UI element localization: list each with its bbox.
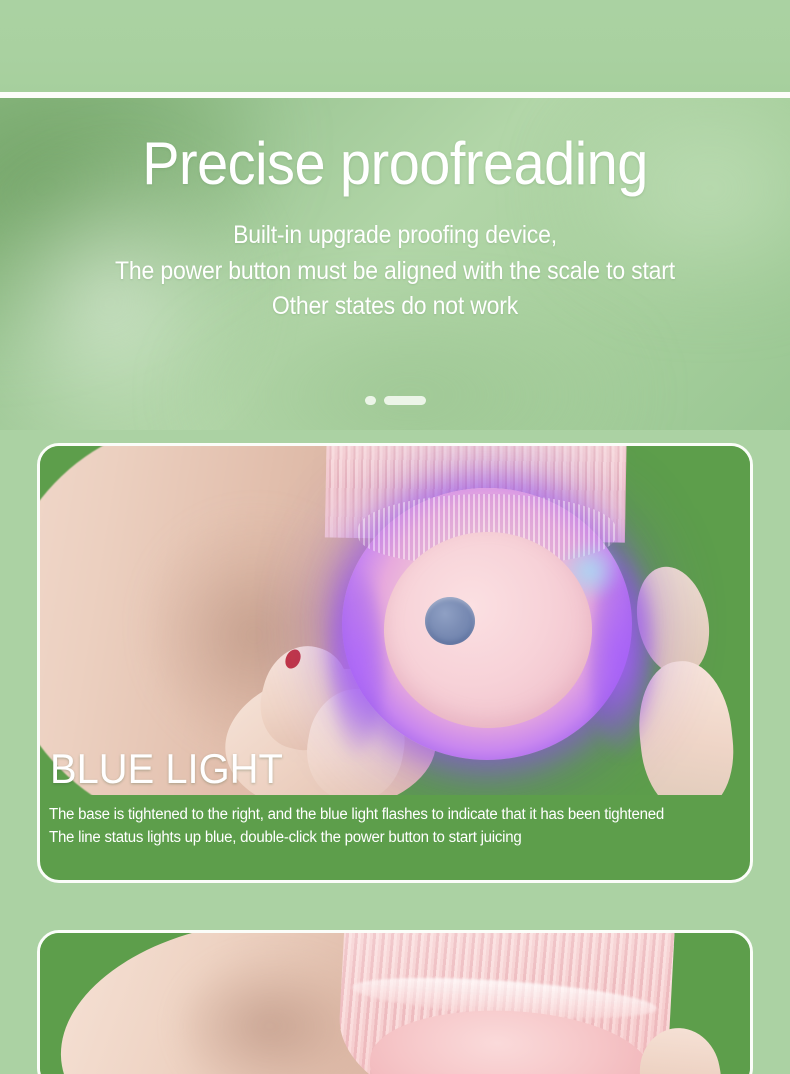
product-photo-blue-light: [40, 446, 750, 795]
hero-subtitle-line-2: The power button must be aligned with th…: [32, 254, 759, 290]
card-heading-blue-light: BLUE LIGHT: [50, 748, 283, 790]
decorative-ornament: [0, 396, 790, 405]
feature-card-blue-light: BLUE LIGHT The base is tightened to the …: [37, 443, 753, 883]
hero-content: Precise proofreading Built-in upgrade pr…: [0, 98, 790, 325]
page-title: Precise proofreading: [28, 134, 763, 194]
card-body-line-2: The line status lights up blue, double-c…: [49, 826, 728, 849]
feature-card-secondary: [37, 930, 753, 1074]
card-body-line-1: The base is tightened to the right, and …: [49, 803, 728, 826]
hero-subtitle-line-3: Other states do not work: [32, 289, 759, 325]
product-detail-page: Precise proofreading Built-in upgrade pr…: [0, 0, 790, 1074]
top-background-strip: [0, 0, 790, 92]
hero-subtitle: Built-in upgrade proofing device, The po…: [32, 218, 759, 325]
product-photo-secondary: [40, 933, 750, 1074]
juicer-base-cap: [384, 532, 592, 728]
hero-section: Precise proofreading Built-in upgrade pr…: [0, 98, 790, 430]
hero-subtitle-line-1: Built-in upgrade proofing device,: [32, 218, 759, 254]
card-body-blue-light: The base is tightened to the right, and …: [49, 803, 728, 850]
ornament-bar-icon: [384, 396, 426, 405]
ornament-dot-icon: [365, 396, 376, 405]
purple-glow-left: [326, 566, 386, 756]
juicer-power-button[interactable]: [425, 597, 475, 645]
